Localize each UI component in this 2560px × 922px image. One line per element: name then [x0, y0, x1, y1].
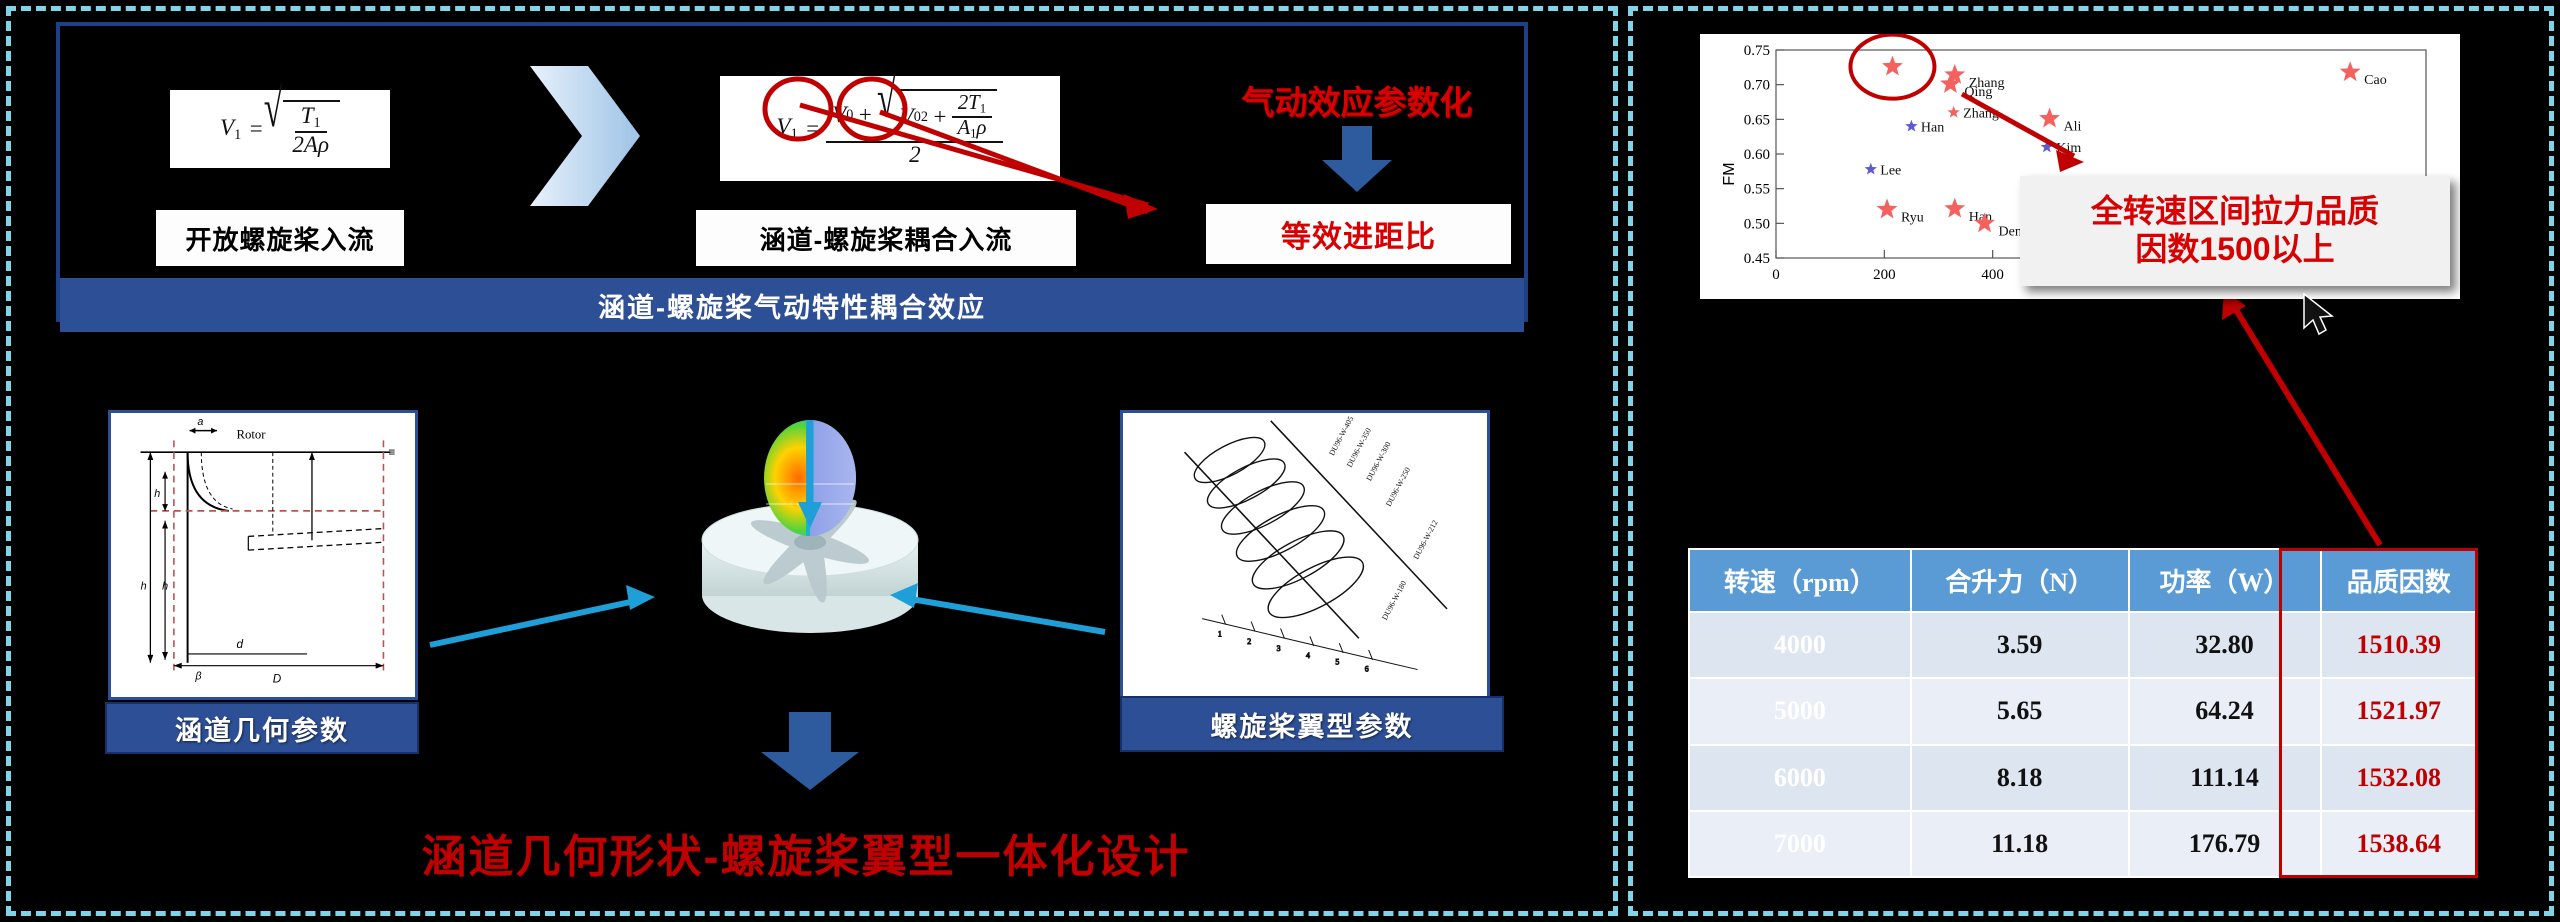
- formula1-denominator: 2Aρ: [286, 133, 335, 157]
- y-tick-label: 0.45: [1744, 251, 1770, 267]
- y-tick-label: 0.60: [1744, 147, 1770, 163]
- svg-text:4: 4: [1306, 651, 1310, 660]
- y-tick-label: 0.50: [1744, 216, 1770, 232]
- cfd-duct-render: [640, 420, 980, 700]
- table-cell-thrust: 3.59: [1911, 612, 2129, 678]
- svg-text:d: d: [237, 638, 244, 651]
- caption-coupled-inflow-text: 涵道-螺旋桨耦合入流: [760, 220, 1013, 257]
- table-row: 50005.6564.241521.97: [1689, 678, 2477, 744]
- duct-geometry-diagram: Rotor a h h h: [108, 410, 418, 700]
- label-propeller-airfoil-parameters: 螺旋桨翼型参数: [1120, 696, 1504, 752]
- table-row: 60008.18111.141532.08: [1689, 745, 2477, 811]
- formula-ducted-coupled-inflow: V1 = V0 + √ V02 + 2T1: [720, 76, 1060, 181]
- formula1-equals: =: [248, 116, 264, 142]
- formula1-numerator: T: [301, 103, 314, 128]
- table-cell-fm: 1532.08: [2321, 745, 2477, 811]
- table-cell-fm: 1538.64: [2321, 811, 2477, 877]
- performance-table: 转速（rpm） 合升力（N） 功率（W） 品质因数 40003.5932.801…: [1688, 548, 2478, 878]
- label-propeller-airfoil-text: 螺旋桨翼型参数: [1211, 705, 1414, 744]
- table-cell-fm: 1510.39: [2321, 612, 2477, 678]
- caption-coupled-inflow: 涵道-螺旋桨耦合入流: [696, 210, 1076, 266]
- svg-text:6: 6: [1365, 665, 1369, 674]
- svg-text:h: h: [154, 488, 160, 500]
- data-point-label: Ali: [2064, 120, 2082, 135]
- table-cell-thrust: 5.65: [1911, 678, 2129, 744]
- table-cell-power: 64.24: [2129, 678, 2321, 744]
- table-row: 700011.18176.791538.64: [1689, 811, 2477, 877]
- caption-open-inflow-text: 开放螺旋桨入流: [185, 220, 374, 257]
- table-cell-fm: 1521.97: [2321, 678, 2477, 744]
- table-cell-rpm: 6000: [1689, 745, 1911, 811]
- label-duct-geometry-parameters: 涵道几何参数: [105, 702, 419, 754]
- result-label-text: 等效进距比: [1281, 212, 1436, 256]
- result-box-equivalent-pitch-ratio: 等效进距比: [1206, 204, 1511, 264]
- x-tick-label: 200: [1873, 267, 1896, 283]
- propeller-airfoil-diagram: DU96-W-405 DU96-W-350 DU96-W-300 DU96-W-…: [1120, 410, 1490, 700]
- caption-open-propeller-inflow: 开放螺旋桨入流: [156, 210, 404, 266]
- radical-sign-icon: √: [264, 83, 284, 174]
- arrow-down-icon: [1318, 126, 1396, 192]
- table-cell-rpm: 7000: [1689, 811, 1911, 877]
- chart-ylabel: FM: [1721, 162, 1738, 185]
- y-tick-label: 0.65: [1744, 112, 1770, 128]
- aero-coupling-flow-box: V1 = √ T1 2Aρ: [56, 22, 1528, 322]
- mouse-cursor-icon: [2300, 292, 2340, 340]
- formula-open-propeller-inflow: V1 = √ T1 2Aρ: [170, 90, 390, 168]
- formula1-lhs: V: [220, 115, 234, 140]
- table-cell-rpm: 5000: [1689, 678, 1911, 744]
- label-duct-geometry-text: 涵道几何参数: [175, 709, 349, 748]
- table-cell-rpm: 4000: [1689, 612, 1911, 678]
- svg-text:5: 5: [1335, 658, 1339, 667]
- svg-text:D: D: [273, 672, 282, 685]
- table-cell-thrust: 8.18: [1911, 745, 2129, 811]
- table-header-figure-of-merit: 品质因数: [2321, 549, 2477, 612]
- banner-text: 涵道-螺旋桨气动特性耦合效应: [598, 286, 986, 325]
- rotor-label: Rotor: [237, 427, 267, 441]
- section-banner-coupling-effect: 涵道-螺旋桨气动特性耦合效应: [60, 278, 1524, 332]
- table-row: 40003.5932.801510.39: [1689, 612, 2477, 678]
- callout-line-1: 全转速区间拉力品质: [2091, 193, 2379, 231]
- formula2-red-circles: [720, 76, 1060, 181]
- svg-text:≡: ≡: [388, 446, 395, 459]
- table-header-thrust: 合升力（N）: [1911, 549, 2129, 612]
- x-tick-label: 400: [1981, 267, 2004, 283]
- svg-text:1: 1: [1218, 629, 1222, 638]
- svg-text:3: 3: [1277, 644, 1281, 653]
- formula1-numerator-sub: 1: [314, 115, 321, 131]
- table-header-power: 功率（W）: [2129, 549, 2321, 612]
- svg-text:h: h: [141, 580, 147, 592]
- table-header-row: 转速（rpm） 合升力（N） 功率（W） 品质因数: [1689, 549, 2477, 612]
- table-cell-thrust: 11.18: [1911, 811, 2129, 877]
- table-cell-power: 176.79: [2129, 811, 2321, 877]
- callout-thrust-quality-factor: 全转速区间拉力品质 因数1500以上: [2020, 176, 2450, 286]
- chevron-right-icon: [530, 66, 640, 206]
- x-tick-label: 0: [1772, 267, 1780, 283]
- callout-line-2: 因数1500以上: [2135, 231, 2334, 269]
- table-header-rpm: 转速（rpm）: [1689, 549, 1911, 612]
- table-cell-power: 32.80: [2129, 612, 2321, 678]
- table-cell-power: 111.14: [2129, 745, 2321, 811]
- y-tick-label: 0.70: [1744, 78, 1770, 94]
- data-point-label: Lee: [1880, 163, 1901, 178]
- svg-text:β: β: [194, 670, 201, 682]
- red-headline-parameterization: 气动效应参数化: [1172, 76, 1542, 124]
- svg-text:2: 2: [1247, 637, 1251, 646]
- formula1-sqrt: √ T1 2Aρ: [264, 100, 340, 157]
- data-point-label: Ryu: [1901, 210, 1924, 225]
- arrow-down-icon-bottom: [755, 712, 865, 790]
- y-tick-label: 0.55: [1744, 182, 1770, 198]
- formula1-lhs-sub: 1: [234, 126, 241, 142]
- y-tick-label: 0.75: [1744, 43, 1770, 59]
- slide-canvas: V1 = √ T1 2Aρ: [0, 0, 2560, 922]
- svg-text:a: a: [197, 416, 203, 428]
- bottom-title-integrated-design: 涵道几何形状-螺旋桨翼型一体化设计: [0, 820, 1612, 885]
- data-point-label: Han: [1921, 120, 1944, 135]
- data-point-label: Cao: [2364, 73, 2387, 88]
